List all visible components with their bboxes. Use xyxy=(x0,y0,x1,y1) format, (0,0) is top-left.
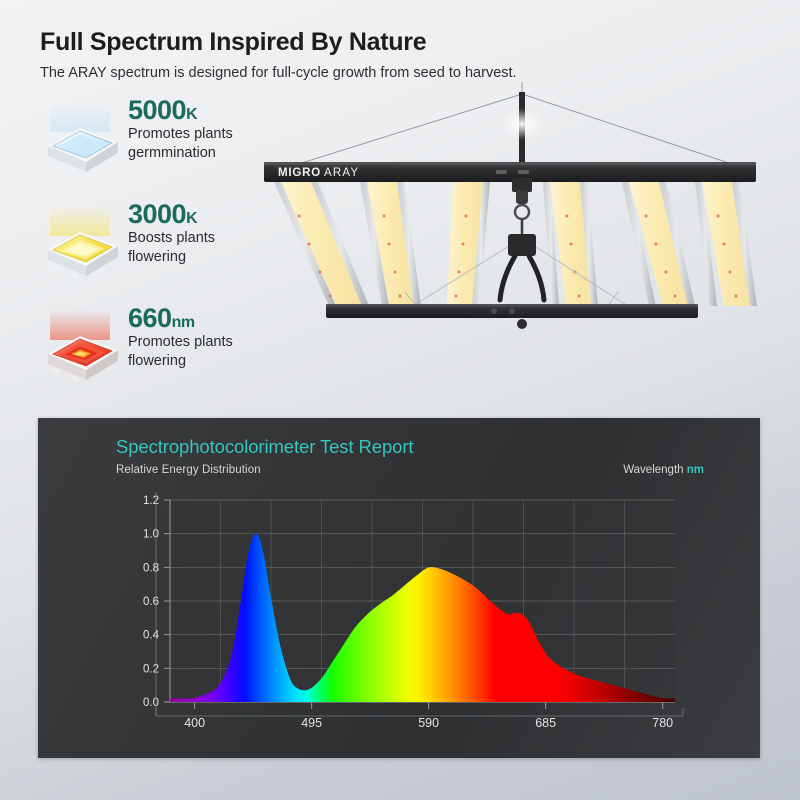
led-chip-deep-red-icon xyxy=(40,310,124,382)
spec-item-3000k: 3000K Boosts plants flowering xyxy=(36,204,266,276)
spectrum-strip xyxy=(170,699,675,703)
spectrum-plot: 0.00.20.40.60.81.01.2400495590685780 xyxy=(38,418,760,758)
spec-unit: K xyxy=(186,106,197,123)
product-image: MIGRO ARAY xyxy=(250,78,770,368)
spec-value-660nm: 660nm xyxy=(128,304,233,332)
svg-text:1.0: 1.0 xyxy=(143,529,159,541)
spec-value-3000k: 3000K xyxy=(128,200,215,228)
bottom-rail xyxy=(326,304,698,329)
svg-text:0.6: 0.6 xyxy=(143,596,159,608)
top-beam: MIGRO ARAY xyxy=(264,162,756,182)
svg-text:0.4: 0.4 xyxy=(143,630,160,642)
page-title: Full Spectrum Inspired By Nature xyxy=(40,28,740,57)
spec-text-5000k: 5000K Promotes plants germmination xyxy=(128,96,233,162)
header: Full Spectrum Inspired By Nature The ARA… xyxy=(40,28,740,81)
svg-text:780: 780 xyxy=(652,716,673,730)
svg-text:590: 590 xyxy=(418,716,439,730)
highlight-glow xyxy=(500,108,544,140)
model-label: ARAY xyxy=(324,167,359,179)
spec-number: 3000 xyxy=(128,199,186,229)
svg-text:495: 495 xyxy=(301,716,322,730)
spec-desc-660nm: Promotes plants flowering xyxy=(128,333,233,370)
svg-text:1.2: 1.2 xyxy=(143,495,159,507)
spec-number: 5000 xyxy=(128,95,186,125)
spec-item-5000k: 5000K Promotes plants germmination xyxy=(36,100,266,172)
spec-text-3000k: 3000K Boosts plants flowering xyxy=(128,200,215,266)
spec-desc-3000k: Boosts plants flowering xyxy=(128,229,215,266)
spec-unit: K xyxy=(186,210,197,227)
center-junction xyxy=(500,178,544,300)
led-chip-warm-white-icon xyxy=(40,206,124,278)
spec-desc-5000k: Promotes plants germmination xyxy=(128,125,233,162)
spec-item-660nm: 660nm Promotes plants flowering xyxy=(36,308,266,380)
svg-text:0.0: 0.0 xyxy=(143,697,159,709)
spec-value-5000k: 5000K xyxy=(128,96,233,124)
spec-text-660nm: 660nm Promotes plants flowering xyxy=(128,304,233,370)
spectrum-chart-panel: Spectrophotocolorimeter Test Report Rela… xyxy=(38,418,760,758)
spec-unit: nm xyxy=(172,314,195,331)
svg-text:685: 685 xyxy=(535,716,556,730)
svg-text:0.8: 0.8 xyxy=(143,562,159,574)
svg-text:0.2: 0.2 xyxy=(143,663,159,675)
led-chip-cool-white-icon xyxy=(40,102,124,174)
led-spec-list: 5000K Promotes plants germmination xyxy=(36,100,266,380)
svg-text:400: 400 xyxy=(184,716,205,730)
spec-number: 660 xyxy=(128,303,172,333)
migro-aray-led-grow-light-illustration: MIGRO ARAY xyxy=(250,78,770,368)
brand-label: MIGRO xyxy=(278,167,321,179)
